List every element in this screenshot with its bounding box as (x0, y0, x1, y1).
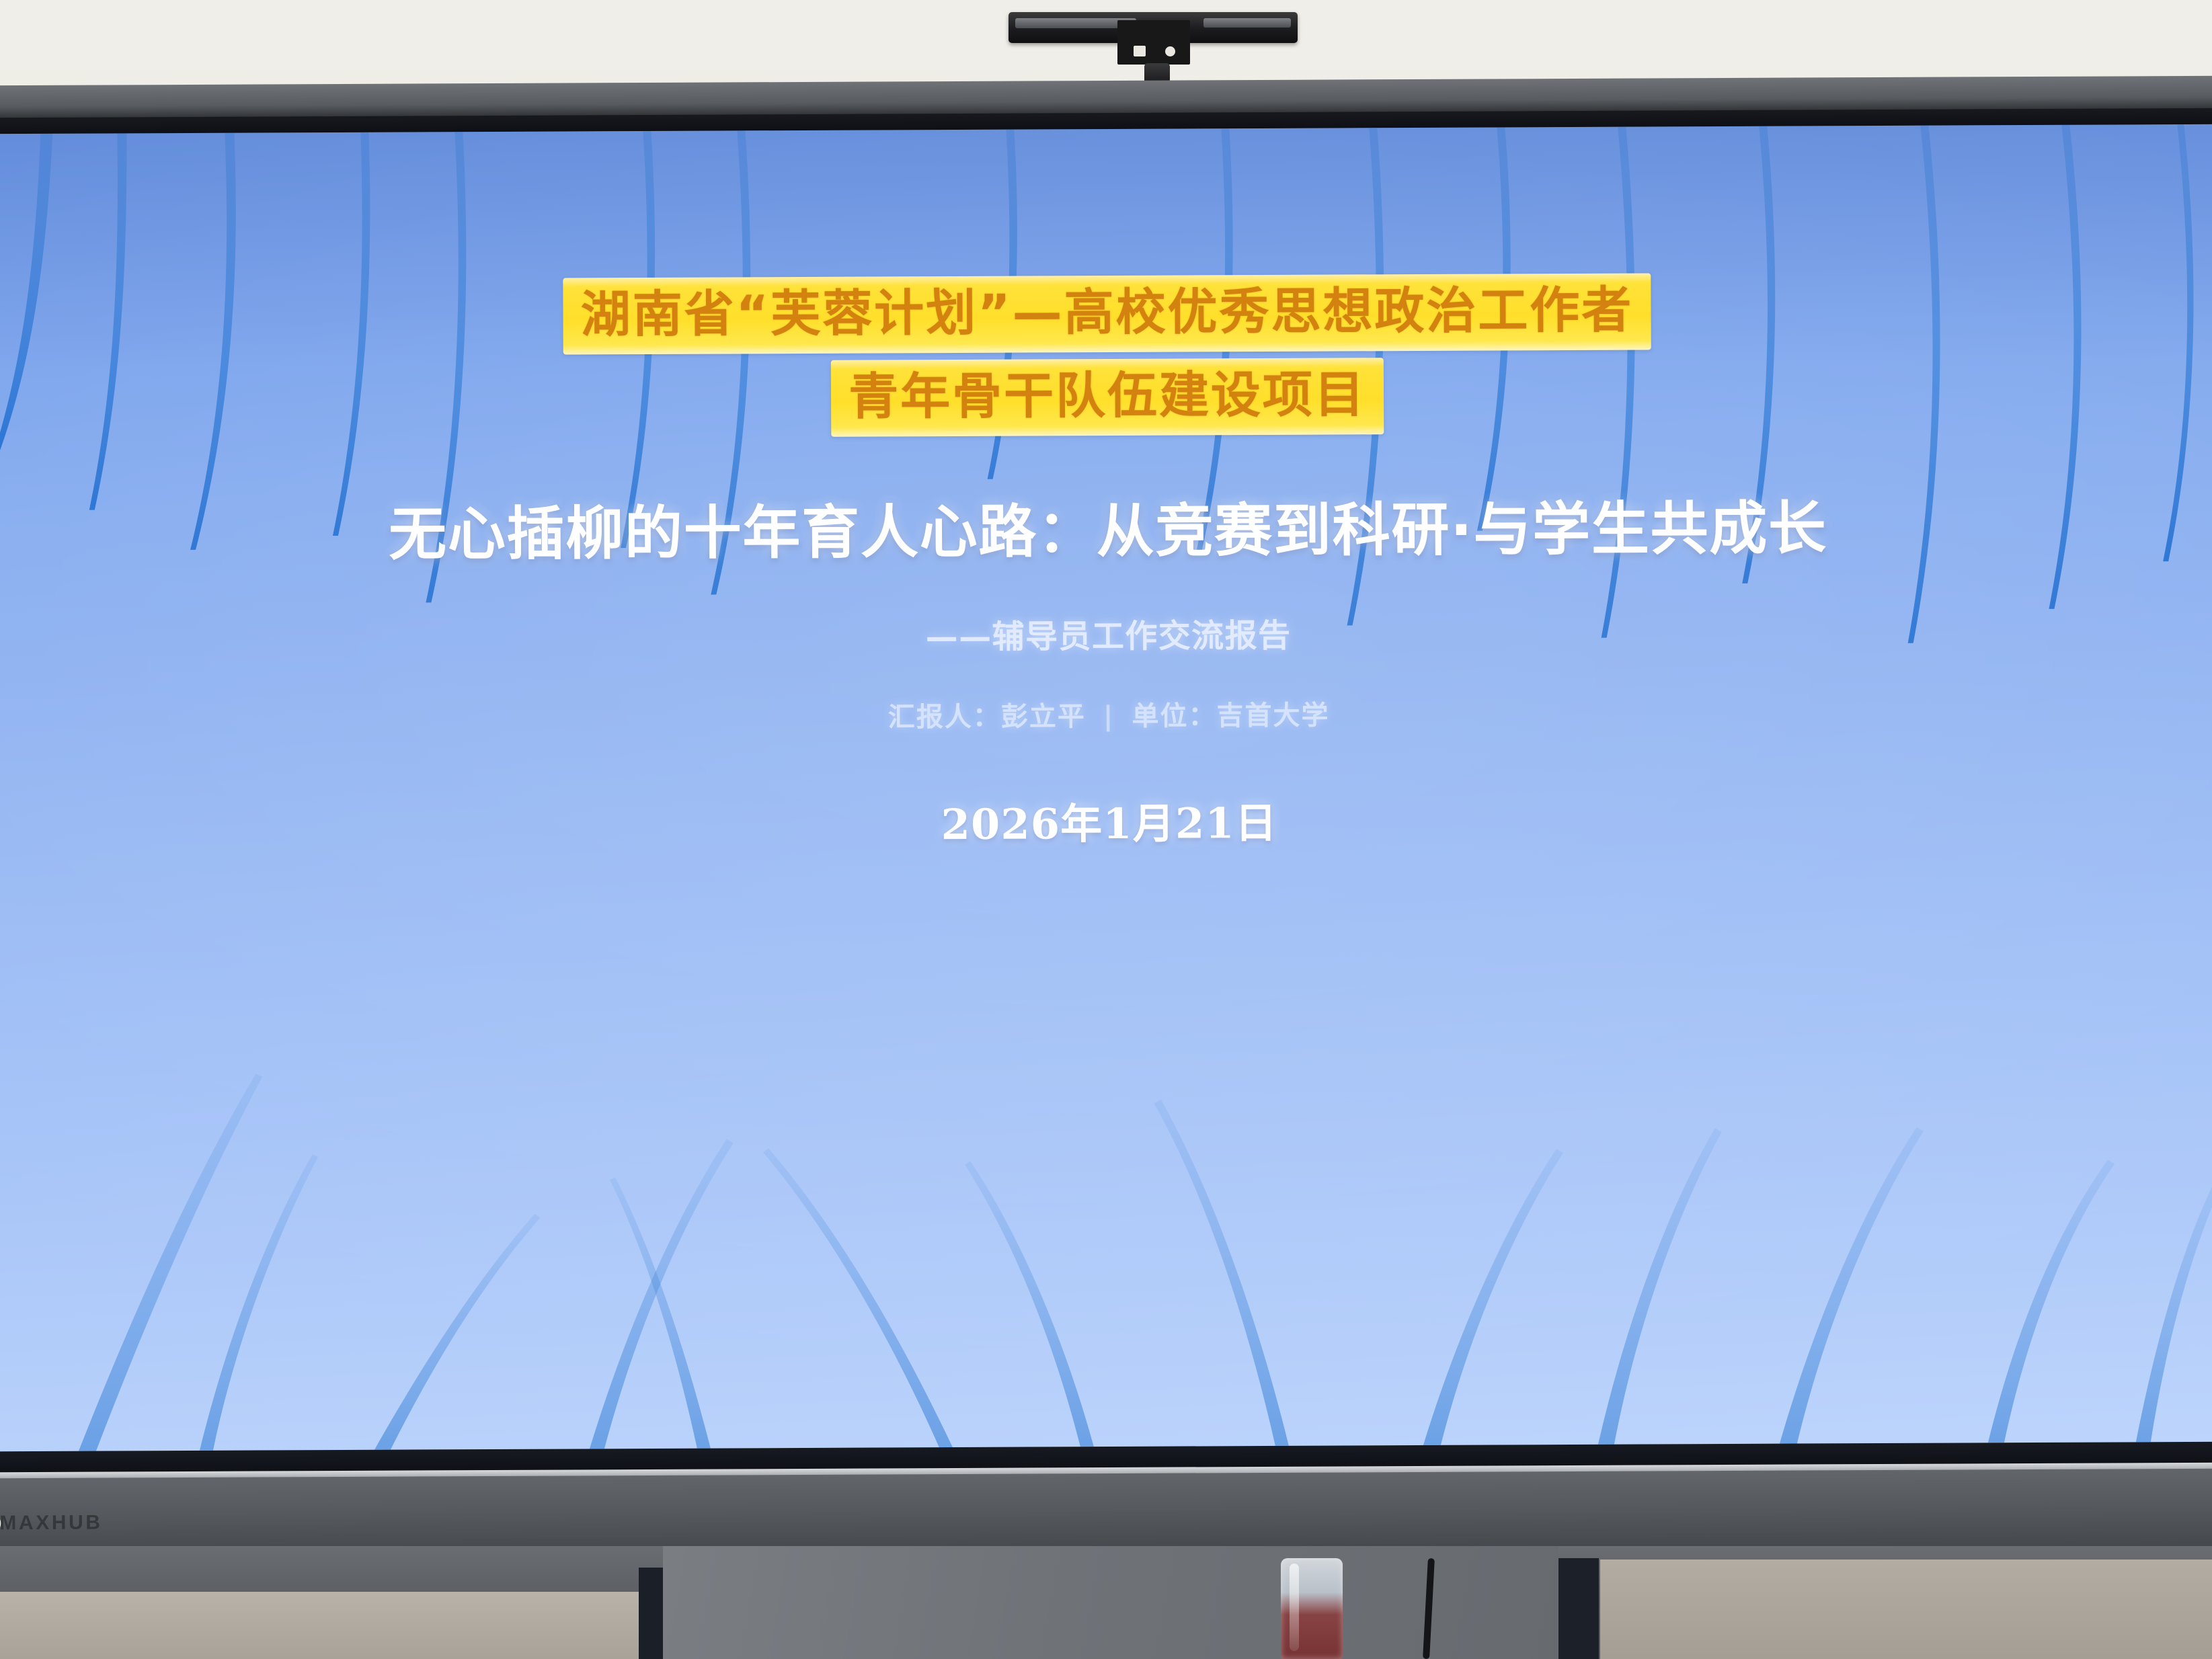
presenter-name: 彭立平 (1001, 701, 1086, 733)
camera-mount-bracket (1117, 20, 1190, 65)
slide-content: 湖南省“芙蓉计划”—高校优秀思想政治工作者 青年骨干队伍建设项目 无心插柳的十年… (0, 124, 2212, 1451)
program-banner-line-1: 湖南省“芙蓉计划”—高校优秀思想政治工作者 (563, 273, 1651, 354)
slide-subtitle: ——辅导员工作交流报告 (926, 609, 1292, 657)
unit-label: 单位： (1132, 700, 1216, 732)
screen-surface[interactable]: 湖南省“芙蓉计划”—高校优秀思想政治工作者 青年骨干队伍建设项目 无心插柳的十年… (0, 124, 2212, 1451)
display-monitor: 湖南省“芙蓉计划”—高校优秀思想政治工作者 青年骨干队伍建设项目 无心插柳的十年… (0, 76, 2212, 1551)
water-bottle-highlight (1290, 1564, 1299, 1651)
presenter-info: 汇报人：彭立平|单位：吉首大学 (888, 694, 1330, 735)
wall-gap-right (1558, 1558, 1599, 1659)
program-banner: 湖南省“芙蓉计划”—高校优秀思想政治工作者 青年骨干队伍建设项目 (563, 273, 1651, 438)
unit-name: 吉首大学 (1216, 700, 1329, 732)
wall-panel-left (0, 1592, 639, 1659)
wall-gap-left (639, 1568, 663, 1659)
room-background: 湖南省“芙蓉计划”—高校优秀思想政治工作者 青年骨干队伍建设项目 无心插柳的十年… (0, 0, 2212, 1659)
slide-date: 2026年1月21日 (941, 789, 1277, 851)
camera-screw-icon (1134, 46, 1146, 56)
program-banner-line-2: 青年骨干队伍建设项目 (831, 358, 1384, 437)
presenter-separator: | (1103, 701, 1115, 732)
presenter-label: 汇报人： (888, 702, 1001, 733)
slide-main-title: 无心插柳的十年育人心路：从竞赛到科研·与学生共成长 (389, 481, 1827, 571)
bezel-bottom (0, 1469, 2212, 1558)
brand-logo: MAXHUB (0, 1508, 154, 1537)
camera-screw-icon (1165, 46, 1175, 56)
wall-panel-right (1600, 1560, 2212, 1659)
